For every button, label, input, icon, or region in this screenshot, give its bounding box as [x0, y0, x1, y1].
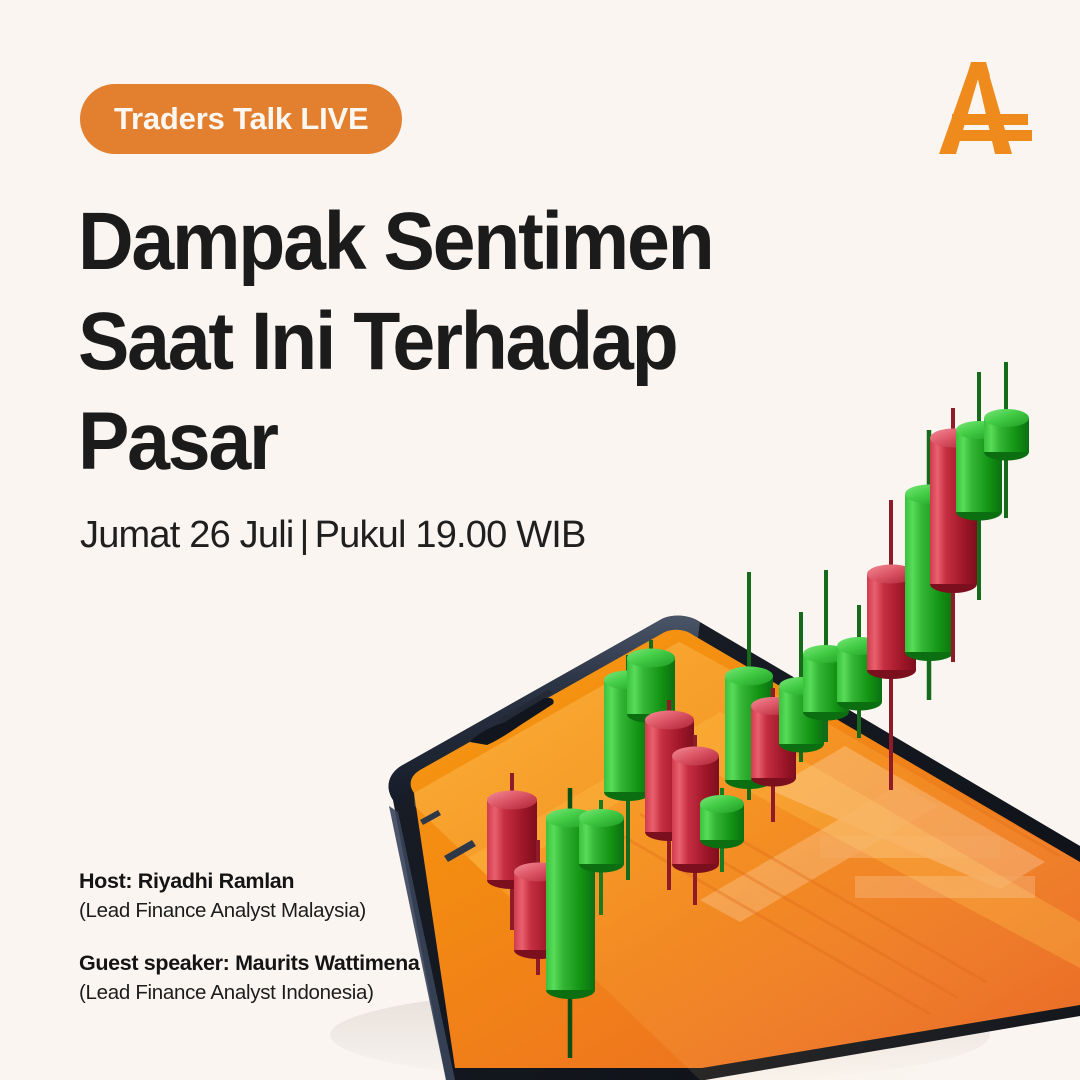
credits: Host: Riyadhi Ramlan (Lead Finance Analy… — [79, 866, 419, 1030]
headline-line-3: Pasar — [78, 392, 792, 492]
schedule-time: Pukul 19.00 WIB — [315, 514, 586, 556]
credit-guest: Guest speaker: Maurits Wattimena (Lead F… — [79, 948, 419, 1008]
poster-canvas: Traders Talk LIVE Dampak Sentimen Saat I… — [0, 0, 1080, 1080]
headline-line-2: Saat Ini Terhadap — [78, 292, 792, 392]
host-name: Host: Riyadhi Ramlan — [79, 866, 419, 896]
live-badge-label: Traders Talk LIVE — [114, 101, 368, 137]
schedule-separator: | — [293, 514, 314, 556]
text-layer: Traders Talk LIVE Dampak Sentimen Saat I… — [0, 0, 1080, 1080]
guest-role: (Lead Finance Analyst Indonesia) — [79, 978, 419, 1008]
page-title: Dampak Sentimen Saat Ini Terhadap Pasar — [78, 192, 792, 492]
headline-line-1: Dampak Sentimen — [78, 192, 792, 292]
brand-logo — [926, 56, 1034, 160]
schedule-line: Jumat 26 Juli|Pukul 19.00 WIB — [80, 514, 586, 557]
guest-name: Guest speaker: Maurits Wattimena — [79, 948, 419, 978]
schedule-date: Jumat 26 Juli — [80, 514, 293, 556]
octa-a-logo-icon — [926, 56, 1034, 160]
credit-host: Host: Riyadhi Ramlan (Lead Finance Analy… — [79, 866, 419, 926]
host-role: (Lead Finance Analyst Malaysia) — [79, 896, 419, 926]
live-badge: Traders Talk LIVE — [80, 84, 402, 154]
